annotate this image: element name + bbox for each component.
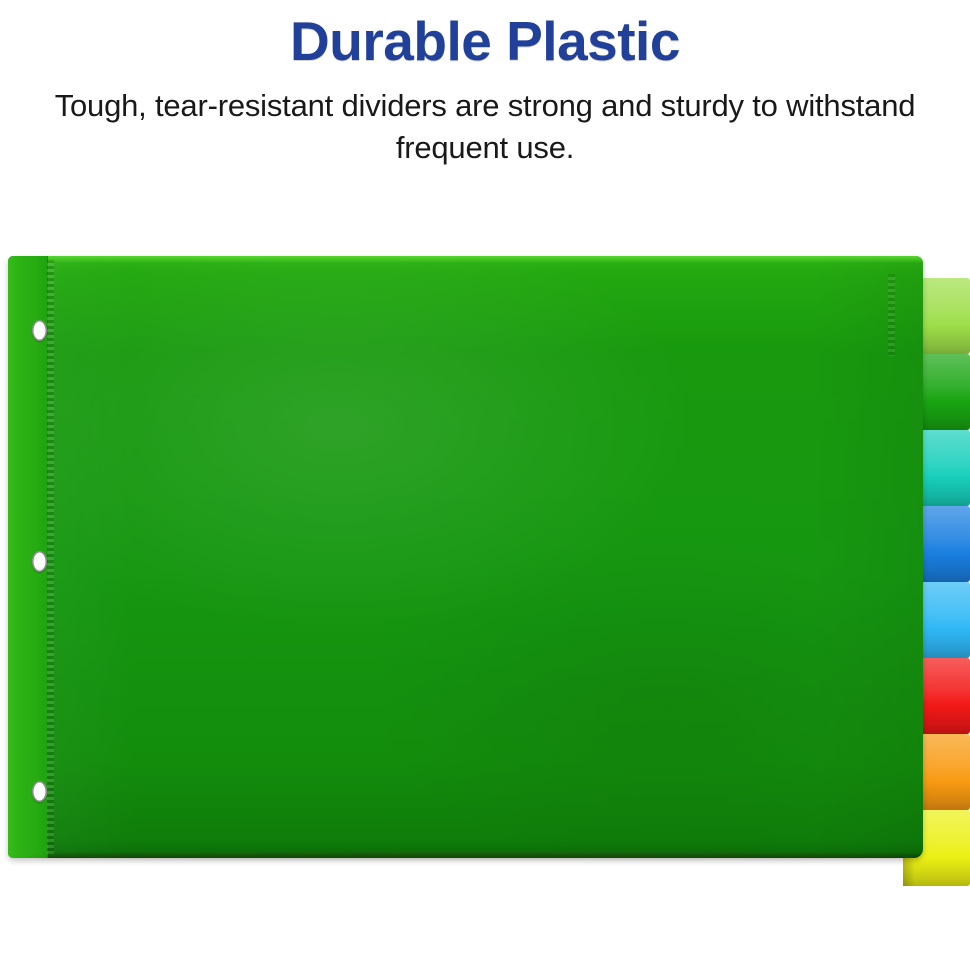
bottom-punch-hole: [32, 781, 47, 802]
middle-punch-hole: [32, 551, 47, 572]
sheet-sheen: [8, 256, 923, 858]
page-subtitle: Tough, tear-resistant dividers are stron…: [35, 85, 935, 169]
divider-sheet: [8, 256, 923, 858]
perforation-line-right: [888, 274, 895, 356]
perforation-line-left: [47, 260, 54, 854]
page-title: Durable Plastic: [0, 12, 970, 71]
sheet-top-edge: [8, 256, 923, 263]
top-punch-hole: [32, 320, 47, 341]
drop-shadow: [30, 852, 920, 861]
product-photo: [0, 248, 970, 868]
header-text-block: Durable Plastic Tough, tear-resistant di…: [0, 0, 970, 169]
